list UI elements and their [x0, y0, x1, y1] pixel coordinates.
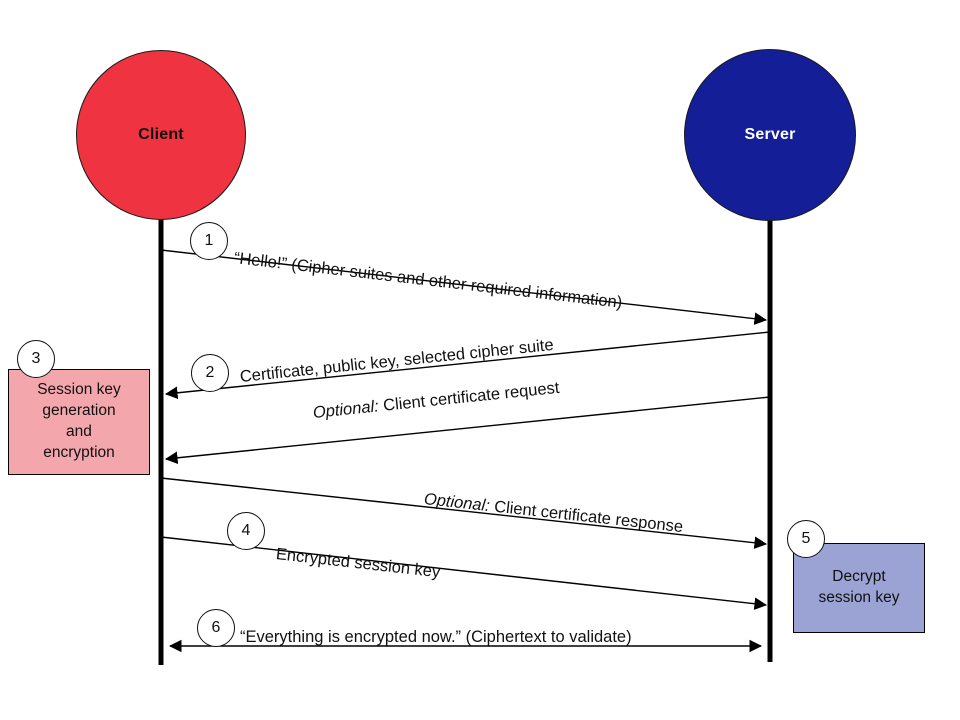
step-badge-5: 5	[787, 520, 825, 558]
note-line: Decrypt	[832, 568, 885, 585]
step-badge-1-label: 1	[205, 232, 214, 250]
step-badge-6-label: 6	[212, 619, 221, 637]
actor-server-label: Server	[744, 126, 795, 144]
message-label-6-text: “Everything is encrypted now.” (Cipherte…	[240, 628, 632, 646]
step-badge-4: 4	[227, 512, 265, 550]
note-line: encryption	[43, 444, 115, 461]
step-badge-3: 3	[17, 340, 55, 378]
step-badge-3-label: 3	[32, 350, 41, 368]
message-label-6: “Everything is encrypted now.” (Cipherte…	[240, 628, 632, 647]
note-line: session key	[819, 589, 900, 606]
actor-client-label: Client	[138, 126, 184, 144]
note-line: Session key	[37, 381, 121, 398]
step-badge-6: 6	[197, 609, 235, 647]
actor-client[interactable]: Client	[76, 50, 246, 220]
note-session-key-text: Session key generation and encryption	[31, 380, 127, 463]
step-badge-2: 2	[191, 354, 229, 392]
step-badge-4-label: 4	[242, 522, 251, 540]
step-badge-5-label: 5	[802, 530, 811, 548]
note-decrypt-text: Decrypt session key	[813, 567, 906, 609]
actor-server[interactable]: Server	[684, 49, 856, 221]
note-line: and	[66, 423, 92, 440]
note-session-key-generation[interactable]: Session key generation and encryption	[8, 369, 150, 475]
step-badge-2-label: 2	[206, 364, 215, 382]
note-line: generation	[42, 402, 115, 419]
step-badge-1: 1	[190, 222, 228, 260]
diagram-canvas: Client Server Session key generation and…	[0, 0, 960, 720]
